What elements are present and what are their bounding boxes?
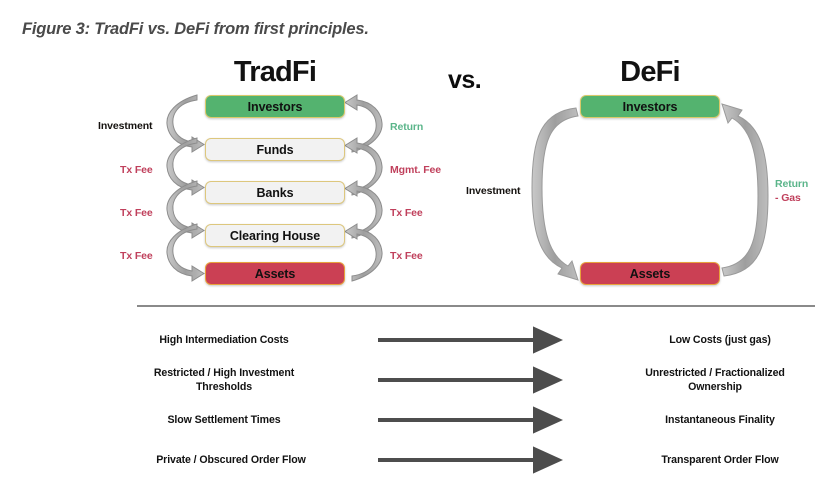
figure-canvas: Figure 3: TradFi vs. DeFi from first pri… [0,0,839,498]
tradfi-left-label-tx-fee-3: Tx Fee [120,250,153,262]
comparison-row: Private / Obscured Order Flow Transparen… [0,453,839,487]
defi-heading: DeFi [580,56,720,89]
tradfi-node-investors[interactable]: Investors [205,95,345,118]
tradfi-node-label: Clearing House [230,229,320,243]
tradfi-node-clearing-house[interactable]: Clearing House [205,224,345,247]
tradfi-right-label-return: Return [390,121,423,133]
tradfi-node-funds[interactable]: Funds [205,138,345,161]
defi-label-investment: Investment [466,185,520,197]
tradfi-left-label-investment: Investment [98,120,152,132]
tradfi-node-banks[interactable]: Banks [205,181,345,204]
comparison-row: High Intermediation Costs Low Costs (jus… [0,333,839,367]
defi-node-label: Investors [623,100,678,114]
section-divider [137,305,815,307]
comparison-row: Slow Settlement Times Instantaneous Fina… [0,413,839,447]
tradfi-left-label-tx-fee-1: Tx Fee [120,164,153,176]
tradfi-left-arrows [167,95,204,281]
defi-label-return: Return [775,178,808,190]
defi-node-investors[interactable]: Investors [580,95,720,118]
defi-node-label: Assets [630,267,670,281]
defi-node-assets[interactable]: Assets [580,262,720,285]
tradfi-right-label-tx-fee-2: Tx Fee [390,250,423,262]
tradfi-node-label: Banks [256,186,293,200]
figure-title: Figure 3: TradFi vs. DeFi from first pri… [22,20,369,39]
comparison-right-text: Low Costs (just gas) [580,333,839,347]
tradfi-right-label-mgmt-fee: Mgmt. Fee [390,164,441,176]
comparison-right-text: Unrestricted / Fractionalized Ownership [575,366,839,394]
tradfi-node-label: Assets [255,267,295,281]
versus-label: vs. [448,66,481,95]
tradfi-node-label: Funds [257,143,294,157]
tradfi-right-label-tx-fee-1: Tx Fee [390,207,423,219]
tradfi-heading: TradFi [205,56,345,89]
comparison-row: Restricted / High Investment Thresholds … [0,366,839,400]
comparison-left-text: High Intermediation Costs [94,333,354,347]
comparison-right-text: Transparent Order Flow [580,453,839,467]
tradfi-right-arrows [345,95,382,281]
comparison-left-text: Restricted / High Investment Thresholds [94,366,354,394]
tradfi-node-assets[interactable]: Assets [205,262,345,285]
comparison-right-text: Instantaneous Finality [580,413,839,427]
tradfi-node-label: Investors [248,100,303,114]
comparison-left-text: Private / Obscured Order Flow [101,453,361,467]
defi-label-gas: - Gas [775,192,801,204]
tradfi-left-label-tx-fee-2: Tx Fee [120,207,153,219]
defi-cycle-arrows [532,104,768,280]
comparison-left-text: Slow Settlement Times [94,413,354,427]
